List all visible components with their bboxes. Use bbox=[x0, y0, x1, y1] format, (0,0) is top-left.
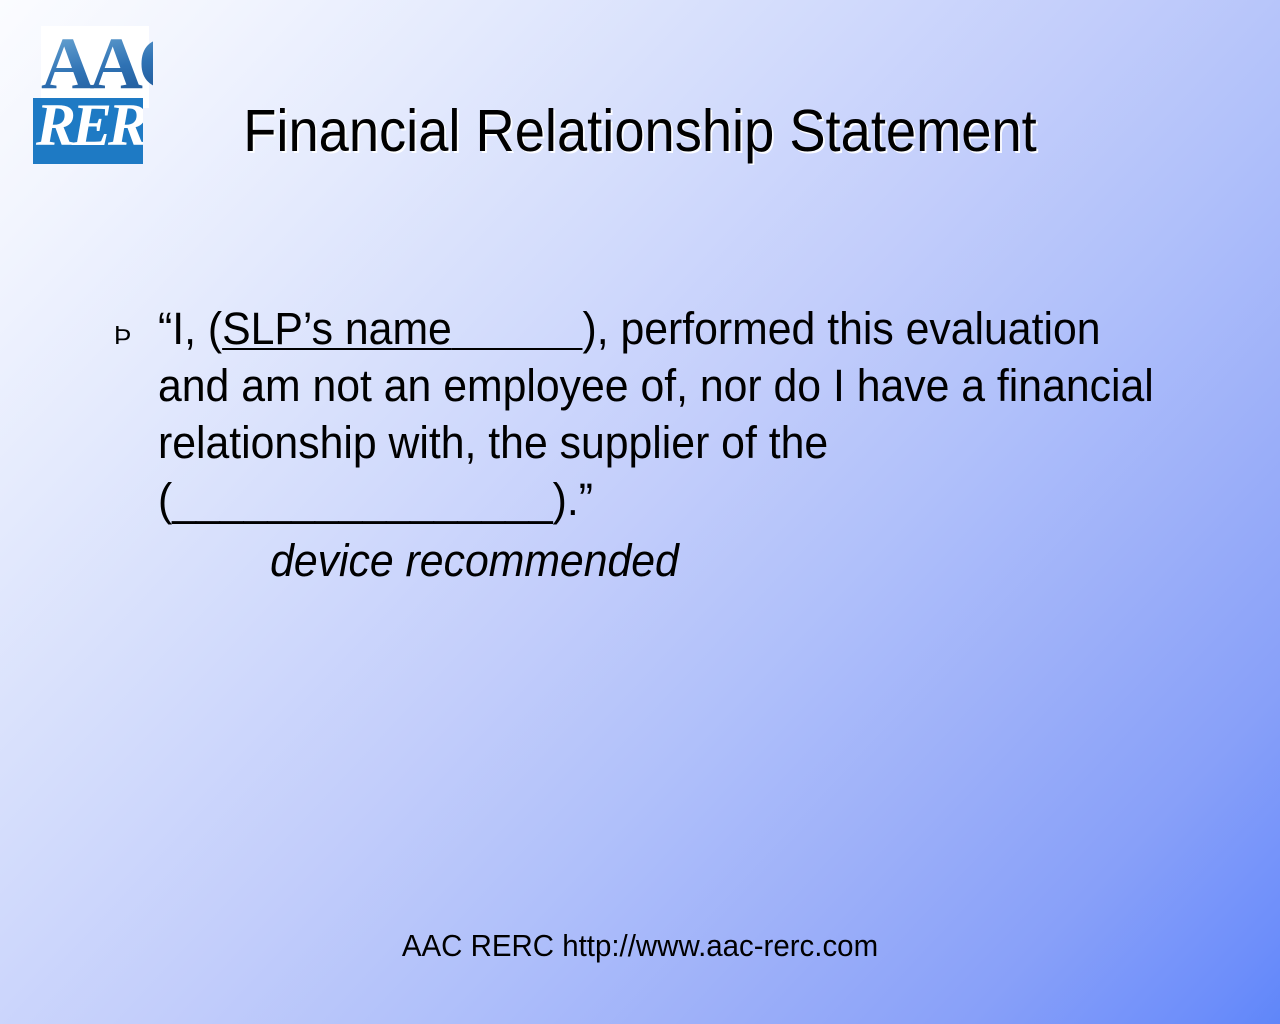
presentation-slide: AAC RERC Financial Relationship Statemen… bbox=[0, 0, 1280, 1024]
slide-title: Financial Relationship Statement bbox=[51, 96, 1229, 166]
statement-paragraph: “I, (SLP’s name ), performed this evalua… bbox=[158, 300, 1161, 528]
slp-name-blank-fill bbox=[452, 303, 583, 354]
device-blank-fill: ________________ bbox=[172, 474, 552, 525]
slp-name-blank-label: SLP’s name bbox=[222, 303, 452, 354]
device-recommended-caption: device recommended bbox=[158, 532, 1161, 589]
statement-open-quote: “I, ( bbox=[158, 303, 222, 354]
bullet-glyph-icon: Þ bbox=[114, 322, 148, 348]
slide-footer: AAC RERC http://www.aac-rerc.com bbox=[32, 927, 1248, 965]
statement-close-quote: ).” bbox=[553, 474, 593, 525]
